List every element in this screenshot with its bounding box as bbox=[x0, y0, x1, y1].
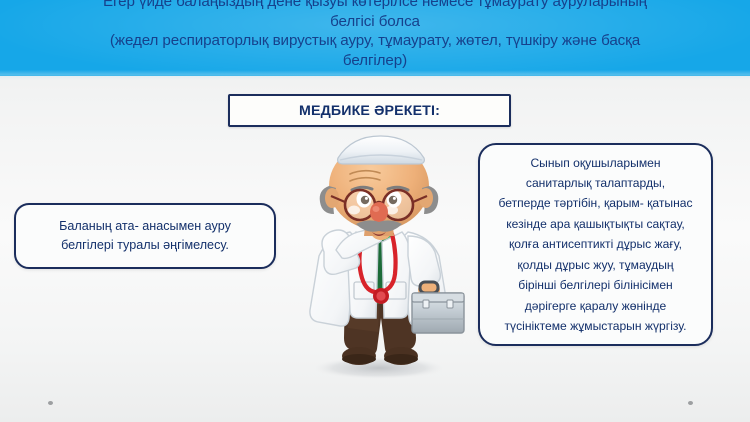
callout-right-text: Сынып оқушыларымен санитарлық талаптарды… bbox=[493, 153, 697, 337]
doctor-cap bbox=[338, 136, 425, 164]
doctor-illustration bbox=[288, 132, 470, 384]
header-banner: Егер үйде балаңыздың дене қызуы көтерілс… bbox=[0, 0, 750, 76]
slide-canvas: Егер үйде балаңыздың дене қызуы көтерілс… bbox=[0, 0, 750, 422]
callout-left: Баланың ата- анасымен ауру белгілері тур… bbox=[14, 203, 276, 269]
banner-fade-edge bbox=[0, 70, 750, 80]
callout-right: Сынып оқушыларымен санитарлық талаптарды… bbox=[478, 143, 713, 346]
doctor-floor-shadow bbox=[313, 357, 445, 379]
doctor-case-latch-right bbox=[447, 300, 453, 308]
banner-heading-text: Егер үйде балаңыздың дене қызуы көтерілс… bbox=[18, 0, 732, 70]
bottom-right-dot bbox=[688, 401, 693, 405]
doctor-arm-right bbox=[408, 236, 440, 286]
bottom-left-dot bbox=[48, 401, 53, 405]
doctor-nose bbox=[370, 202, 388, 222]
doctor-moustache bbox=[356, 220, 402, 231]
callout-left-text: Баланың ата- анасымен ауру белгілері тур… bbox=[59, 217, 231, 255]
section-title-label: МЕДБИКЕ ӘРЕКЕТІ: bbox=[299, 103, 440, 119]
section-title-box: МЕДБИКЕ ӘРЕКЕТІ: bbox=[228, 94, 511, 127]
doctor-case-latch-left bbox=[423, 300, 429, 308]
